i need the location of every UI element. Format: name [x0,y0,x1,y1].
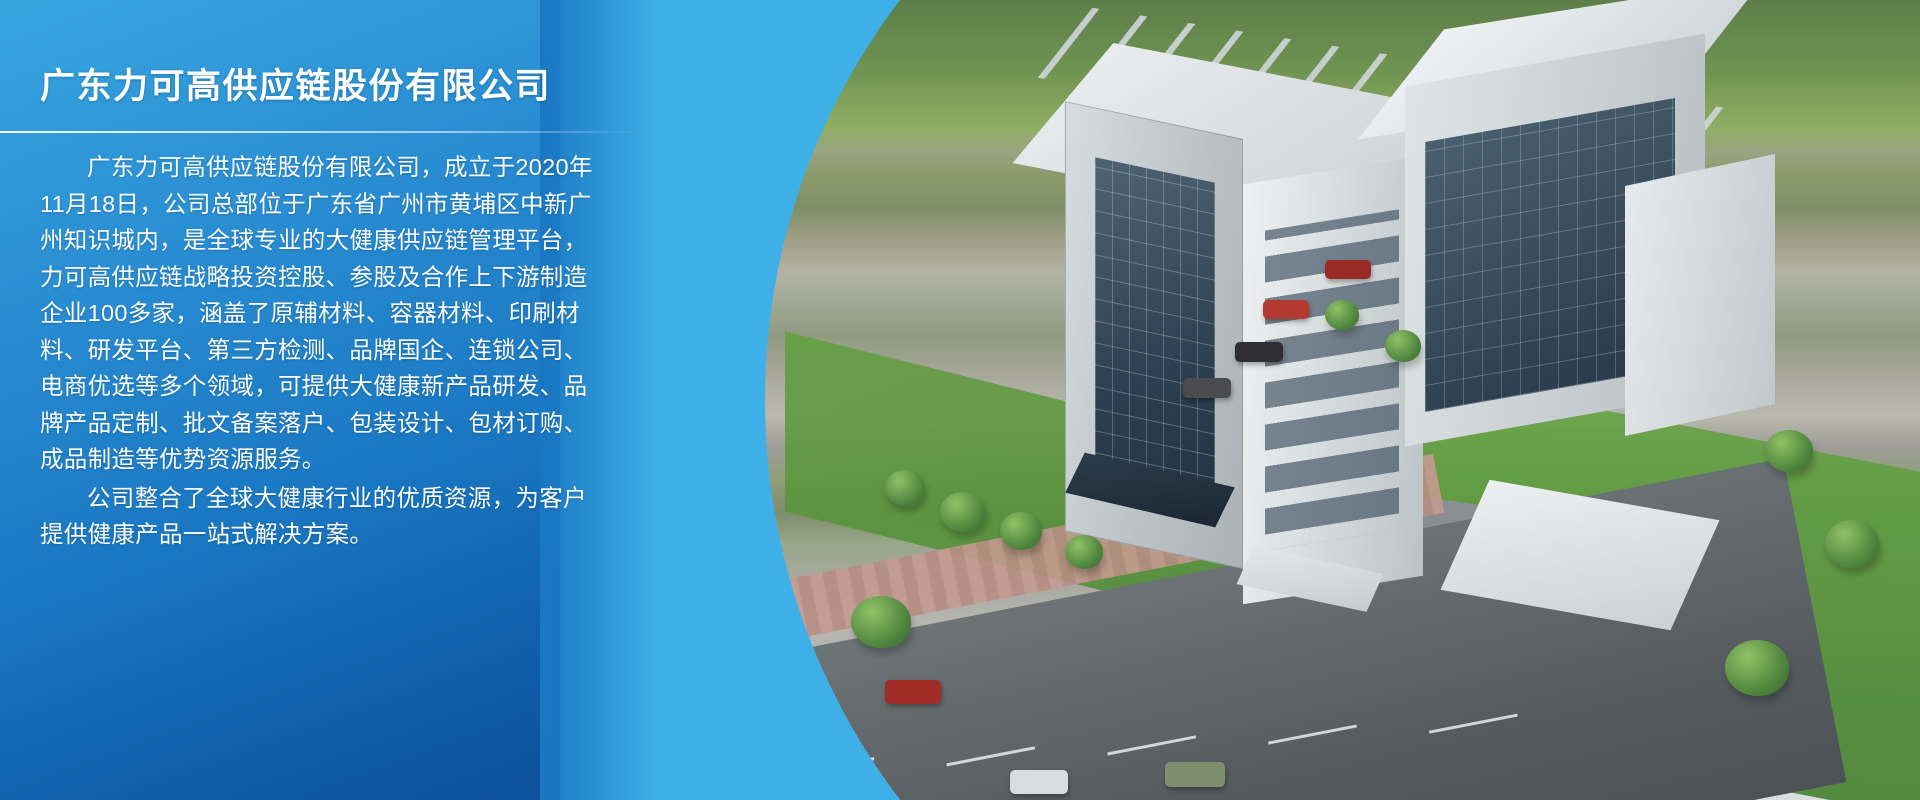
tree [1000,512,1042,550]
car-red [1325,260,1371,279]
tree [851,596,911,648]
title-divider [0,131,640,133]
company-intro-paragraph: 广东力可高供应链股份有限公司，成立于2020年11月18日，公司总部位于广东省广… [40,149,600,478]
tree [1765,430,1813,472]
car-dark [1235,342,1283,362]
car-grey [1183,378,1231,398]
building-c [1625,154,1775,436]
tree [1065,535,1103,569]
company-profile-banner: 广东力可高供应链股份有限公司 广东力可高供应链股份有限公司，成立于2020年11… [0,0,1920,800]
tree [1725,640,1789,696]
company-summary-paragraph: 公司整合了全球大健康行业的优质资源，为客户提供健康产品一站式解决方案。 [40,480,600,553]
tree [940,492,986,532]
tree [1385,330,1421,362]
tree [1825,520,1879,568]
car-red [885,680,941,704]
industrial-park-photo [765,0,1920,800]
tree [1325,300,1359,330]
car-red [1263,300,1309,319]
car-olive [1165,762,1225,787]
tree [885,470,925,506]
text-content: 广东力可高供应链股份有限公司 广东力可高供应链股份有限公司，成立于2020年11… [0,0,640,800]
park-photo-circle-mask [765,0,1920,800]
car-white [1010,770,1068,794]
page-title: 广东力可高供应链股份有限公司 [40,58,600,109]
